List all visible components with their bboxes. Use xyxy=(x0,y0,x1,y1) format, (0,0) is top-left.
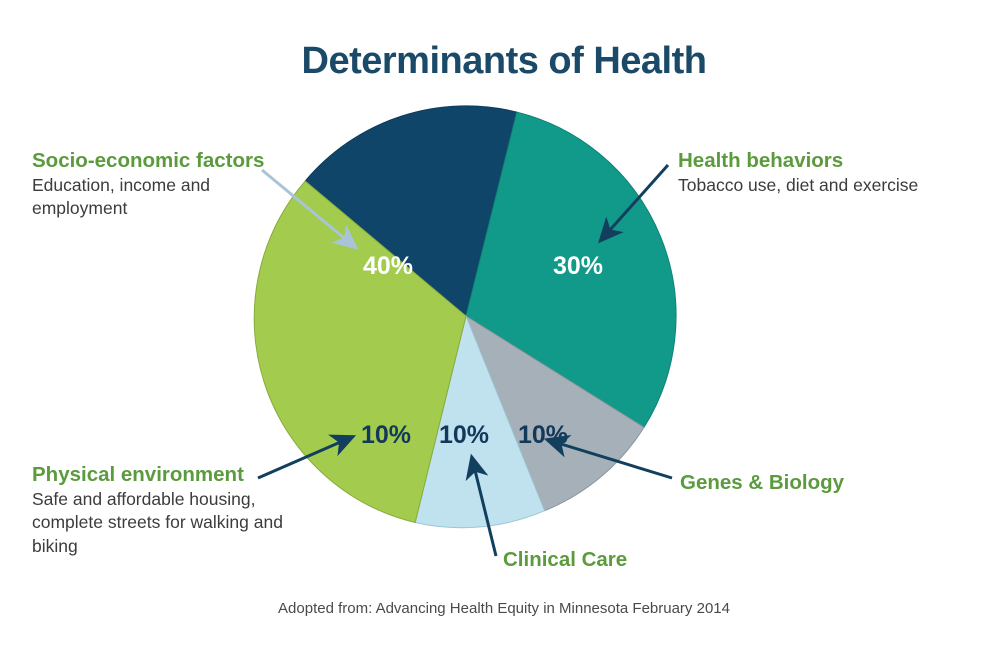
callout-physical-environment[interactable]: Physical environment Safe and affordable… xyxy=(32,462,322,558)
callout-socio-economic-subtitle: Education, income and employment xyxy=(32,174,302,221)
slice-label-clinical-care: 10% xyxy=(439,421,489,449)
callout-health-behaviors[interactable]: Health behaviors Tobacco use, diet and e… xyxy=(678,148,978,197)
callout-health-behaviors-subtitle: Tobacco use, diet and exercise xyxy=(678,174,978,197)
callout-clinical-care[interactable]: Clinical Care xyxy=(503,547,723,573)
callout-genes-biology-title: Genes & Biology xyxy=(680,470,980,496)
chart-canvas: Determinants of Health 40% 30% 10% 10% 1… xyxy=(0,0,1008,666)
callout-physical-environment-subtitle: Safe and affordable housing, complete st… xyxy=(32,488,322,558)
callout-health-behaviors-title: Health behaviors xyxy=(678,148,978,174)
callout-socio-economic-title: Socio-economic factors xyxy=(32,148,302,174)
slice-label-health-behaviors: 30% xyxy=(553,252,603,280)
callout-genes-biology[interactable]: Genes & Biology xyxy=(680,470,980,496)
callout-clinical-care-title: Clinical Care xyxy=(503,547,723,573)
callout-socio-economic[interactable]: Socio-economic factors Education, income… xyxy=(32,148,302,221)
callout-physical-environment-title: Physical environment xyxy=(32,462,322,488)
slice-label-physical-environment: 10% xyxy=(361,421,411,449)
source-note: Adopted from: Advancing Health Equity in… xyxy=(0,600,1008,617)
slice-label-socio-economic: 40% xyxy=(363,252,413,280)
